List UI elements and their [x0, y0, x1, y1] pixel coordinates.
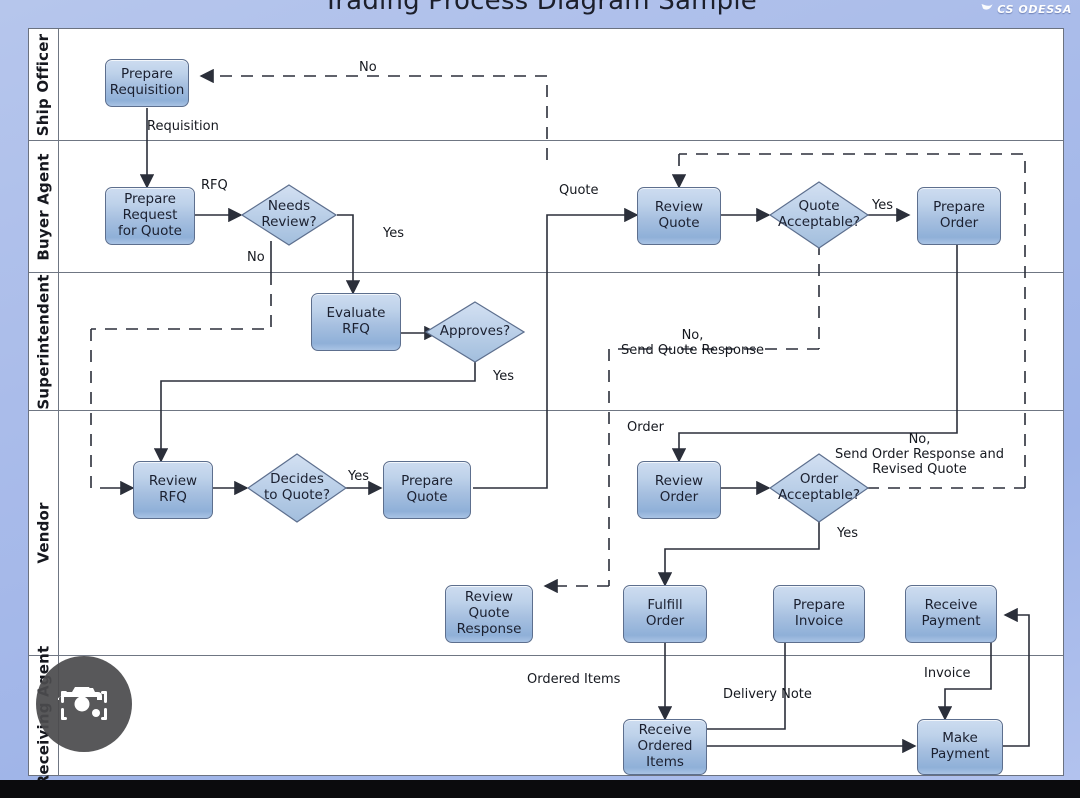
swimlane-diagram: Ship Officer Buyer Agent Superintendent … [28, 28, 1064, 776]
edge-label-order-acceptable-yes: Yes [837, 527, 858, 542]
node-prepare-request-for-quote[interactable]: Prepare Request for Quote [105, 187, 195, 245]
edge-label-invoice: Invoice [924, 667, 970, 682]
swoosh-icon [980, 2, 994, 16]
edge-label-no-top: No [359, 61, 377, 76]
edge-label-requisition: Requisition [147, 120, 219, 135]
node-label: Fulfill Order [646, 598, 684, 630]
node-review-quote-response[interactable]: Review Quote Response [445, 585, 533, 643]
node-label: Review Quote Response [457, 590, 522, 638]
node-label: Prepare Requisition [110, 67, 185, 99]
camera-lens-glyph [58, 678, 110, 730]
edge-label-no-send-quote-response: No, Send Quote Response [621, 329, 764, 359]
node-approves[interactable]: Approves? [425, 301, 525, 363]
node-prepare-order[interactable]: Prepare Order [917, 187, 1001, 245]
node-label: Prepare Request for Quote [118, 192, 182, 240]
camera-lens-icon[interactable] [36, 656, 132, 752]
node-evaluate-rfq[interactable]: Evaluate RFQ [311, 293, 401, 351]
node-label: Receive Ordered Items [638, 723, 693, 771]
edge-label-approves-yes: Yes [493, 370, 514, 385]
lane-header-vendor: Vendor [29, 411, 59, 655]
node-fulfill-order[interactable]: Fulfill Order [623, 585, 707, 643]
edge-label-rfq: RFQ [201, 179, 228, 194]
lane-header-superintendent: Superintendent [29, 273, 59, 410]
node-receive-ordered-items[interactable]: Receive Ordered Items [623, 719, 707, 775]
page-title: Trading Process Diagram Sample [0, 0, 1080, 16]
node-label: Needs Review? [241, 199, 337, 231]
edge-label-delivery-note: Delivery Note [723, 688, 812, 703]
node-prepare-quote[interactable]: Prepare Quote [383, 461, 471, 519]
node-review-quote[interactable]: Review Quote [637, 187, 721, 245]
node-prepare-requisition[interactable]: Prepare Requisition [105, 59, 189, 107]
edge-label-needs-review-no: No [247, 251, 265, 266]
edge-label-decides-yes: Yes [348, 470, 369, 485]
node-label: Make Payment [930, 731, 989, 763]
node-receive-payment[interactable]: Receive Payment [905, 585, 997, 643]
node-review-rfq[interactable]: Review RFQ [133, 461, 213, 519]
edge-label-needs-review-yes: Yes [383, 227, 404, 242]
node-needs-review[interactable]: Needs Review? [241, 184, 337, 246]
node-decides-to-quote[interactable]: Decides to Quote? [247, 453, 347, 523]
edge-label-quote-acceptable-yes: Yes [872, 199, 893, 214]
node-label: Prepare Order [933, 200, 985, 232]
node-label: Order Acceptable? [769, 472, 869, 504]
bottom-bar [0, 780, 1080, 798]
lane-header-ship-officer: Ship Officer [29, 29, 59, 140]
node-label: Review Quote [655, 200, 703, 232]
node-quote-acceptable[interactable]: Quote Acceptable? [769, 181, 869, 249]
screenshot-root: Trading Process Diagram Sample CS ODESSA… [0, 0, 1080, 798]
lane-label-vendor: Vendor [35, 502, 53, 563]
node-label: Review Order [655, 474, 703, 506]
node-make-payment[interactable]: Make Payment [917, 719, 1003, 775]
node-label: Decides to Quote? [247, 472, 347, 504]
node-label: Evaluate RFQ [327, 306, 386, 338]
edge-label-quote: Quote [559, 184, 599, 199]
lane-superintendent: Superintendent [29, 273, 1063, 411]
node-label: Review RFQ [149, 474, 197, 506]
lane-label-superintendent: Superintendent [35, 274, 53, 409]
node-label: Prepare Quote [401, 474, 453, 506]
lane-label-buyer-agent: Buyer Agent [35, 153, 53, 260]
lane-label-ship-officer: Ship Officer [35, 33, 53, 135]
edge-label-no-send-order-response: No, Send Order Response and Revised Quot… [835, 433, 1004, 478]
edge-label-ordered-items: Ordered Items [527, 673, 620, 688]
node-prepare-invoice[interactable]: Prepare Invoice [773, 585, 865, 643]
node-label: Approves? [425, 324, 525, 340]
lane-header-buyer-agent: Buyer Agent [29, 141, 59, 272]
node-label: Quote Acceptable? [769, 199, 869, 231]
node-label: Prepare Invoice [793, 598, 845, 630]
node-review-order[interactable]: Review Order [637, 461, 721, 519]
edge-label-order: Order [627, 421, 664, 436]
logo-text: CS ODESSA [997, 3, 1072, 16]
node-label: Receive Payment [921, 598, 980, 630]
cs-odessa-logo: CS ODESSA [980, 2, 1072, 16]
